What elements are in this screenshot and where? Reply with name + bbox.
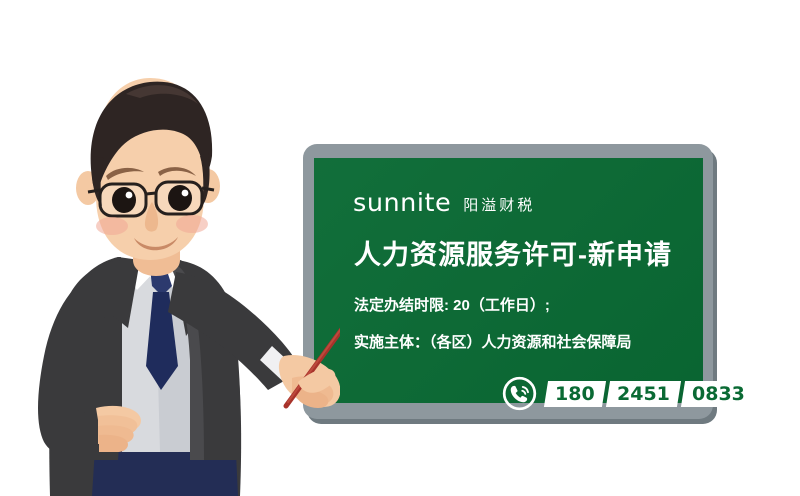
contact-phone-block[interactable]: 180 2451 0833 bbox=[502, 376, 757, 411]
phone-number: 180 2451 0833 bbox=[546, 381, 757, 407]
detail-line-authority: 实施主体：（各区）人力资源和社会保障局 bbox=[354, 335, 632, 350]
blackboard-surface: sunnite 阳溢财税 人力资源服务许可-新申请 法定办结时限: 20（工作日… bbox=[314, 158, 703, 403]
brand-logo: sunnite 阳溢财税 bbox=[354, 190, 535, 215]
blackboard: sunnite 阳溢财税 人力资源服务许可-新申请 法定办结时限: 20（工作日… bbox=[303, 144, 713, 419]
brand-logo-mark: sunnite bbox=[353, 190, 451, 215]
phone-segment-2-text: 2451 bbox=[617, 381, 670, 407]
phone-ring-icon bbox=[502, 376, 537, 411]
detail-line-processing-time: 法定办结时限: 20（工作日）; bbox=[354, 298, 550, 313]
headline-title: 人力资源服务许可-新申请 bbox=[354, 242, 672, 269]
poster-canvas: sunnite 阳溢财税 人力资源服务许可-新申请 法定办结时限: 20（工作日… bbox=[0, 0, 800, 496]
eye-right-glint bbox=[182, 190, 189, 197]
phone-segment-1-text: 180 bbox=[555, 381, 595, 407]
eye-left bbox=[112, 187, 136, 213]
phone-segment-1: 180 bbox=[544, 381, 606, 407]
brand-logo-chinese: 阳溢财税 bbox=[463, 198, 535, 215]
eye-right bbox=[168, 185, 192, 211]
eye-left-glint bbox=[126, 192, 133, 199]
phone-segment-3-text: 0833 bbox=[692, 381, 745, 407]
phone-segment-3: 0833 bbox=[681, 381, 756, 407]
businessman-illustration bbox=[0, 60, 340, 496]
cheek-left bbox=[96, 217, 128, 235]
blackboard-frame: sunnite 阳溢财税 人力资源服务许可-新申请 法定办结时限: 20（工作日… bbox=[303, 144, 713, 419]
cheek-right bbox=[176, 215, 208, 233]
phone-segment-2: 2451 bbox=[606, 381, 681, 407]
